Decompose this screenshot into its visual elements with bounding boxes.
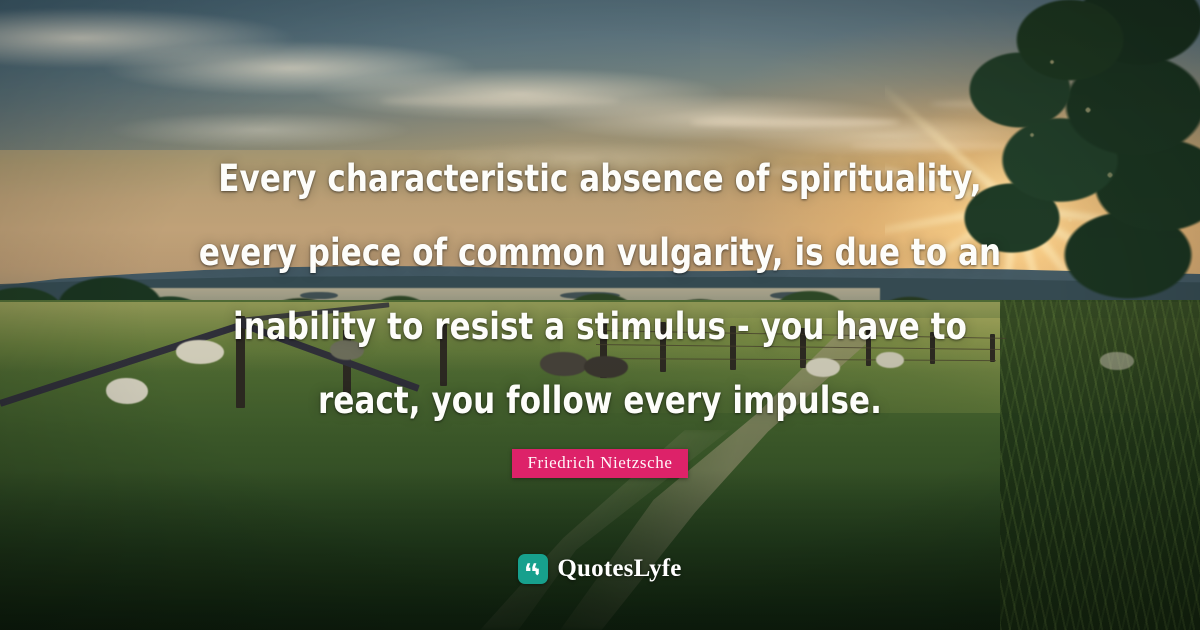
cloud-wisp <box>380 96 620 106</box>
quote-line: react, you follow every impulse. <box>42 364 1158 438</box>
quote-line: Every characteristic absence of spiritua… <box>42 142 1158 216</box>
quote-text: Every characteristic absence of spiritua… <box>42 142 1158 438</box>
quotation-marks-icon <box>518 554 548 584</box>
cloud-wisp <box>690 118 900 127</box>
quote-line: every piece of common vulgarity, is due … <box>42 216 1158 290</box>
brand-logo[interactable]: QuotesLyfe <box>0 554 1200 584</box>
author-badge-wrap: Friedrich Nietzsche <box>0 449 1200 478</box>
author-badge[interactable]: Friedrich Nietzsche <box>512 449 689 478</box>
quote-line: inability to resist a stimulus - you hav… <box>42 290 1158 364</box>
quote-image: Every characteristic absence of spiritua… <box>0 0 1200 630</box>
brand-name: QuotesLyfe <box>557 555 681 583</box>
